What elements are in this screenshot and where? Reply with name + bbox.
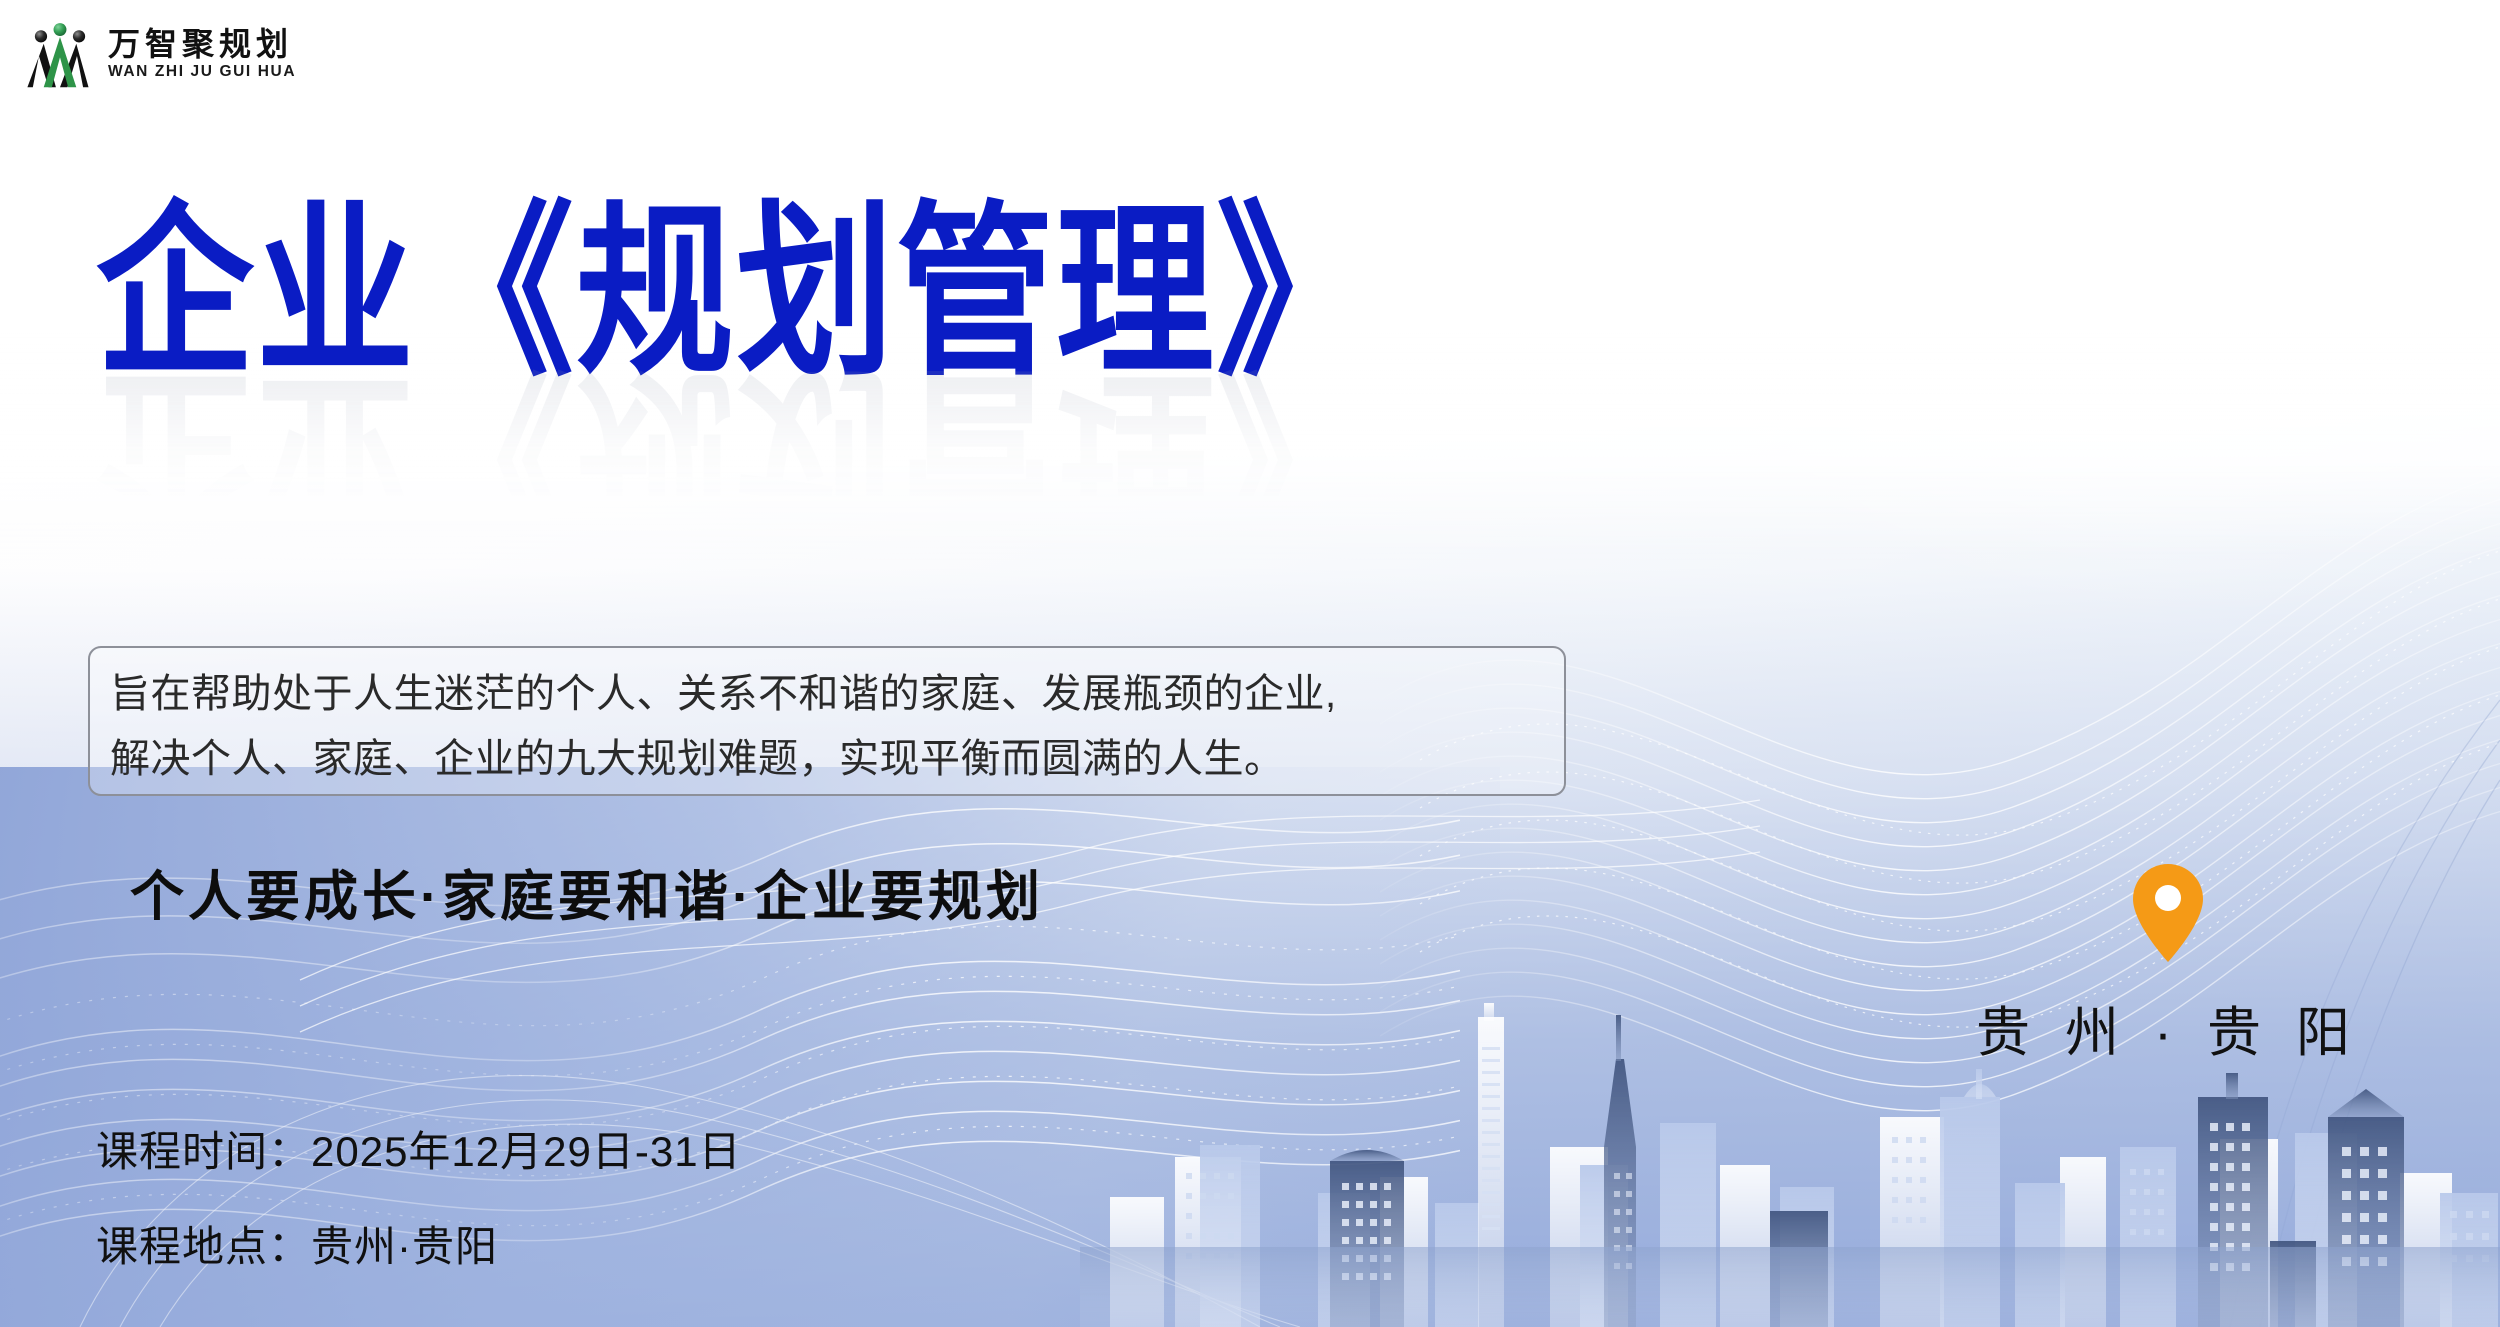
three-people-logo-icon [26, 18, 94, 90]
brand-name-pinyin: WAN ZHI JU GUI HUA [108, 64, 296, 80]
description-line-1: 旨在帮助处于人生迷茫的个人、关系不和谐的家庭、发展瓶颈的企业, [110, 662, 1544, 727]
hero-tagline: 个人要成长·家庭要和谐·企业要规划 [130, 852, 1044, 931]
location-label: 贵 州 · 贵 阳 [1958, 988, 2378, 1067]
map-pin-icon [2129, 862, 2207, 964]
title-reflection: 企业《规划管理》 [96, 360, 1376, 546]
description-line-2: 解决个人、家庭、企业的九大规划难题，实现平衡而圆满的人生。 [110, 727, 1544, 792]
brand-name-cn: 万智聚规划 [108, 28, 296, 62]
page-title: 企业《规划管理》 [96, 200, 1736, 386]
brand-logo[interactable]: 万智聚规划 WAN ZHI JU GUI HUA [26, 18, 296, 90]
description-box: 旨在帮助处于人生迷茫的个人、关系不和谐的家庭、发展瓶颈的企业, 解决个人、家庭、… [88, 646, 1566, 796]
course-info-block: 课程时间：2025年12月29日-31日 课程地点：贵州·贵阳 [96, 1118, 742, 1274]
brand-logo-text: 万智聚规划 WAN ZHI JU GUI HUA [108, 28, 296, 79]
location-block: 贵 州 · 贵 阳 [1958, 862, 2378, 1067]
poster-canvas: 万智聚规划 WAN ZHI JU GUI HUA 企业《规划管理》 企业《规划管… [0, 0, 2500, 1327]
course-place: 课程地点：贵州·贵阳 [96, 1213, 742, 1274]
course-time: 课程时间：2025年12月29日-31日 [96, 1118, 742, 1179]
